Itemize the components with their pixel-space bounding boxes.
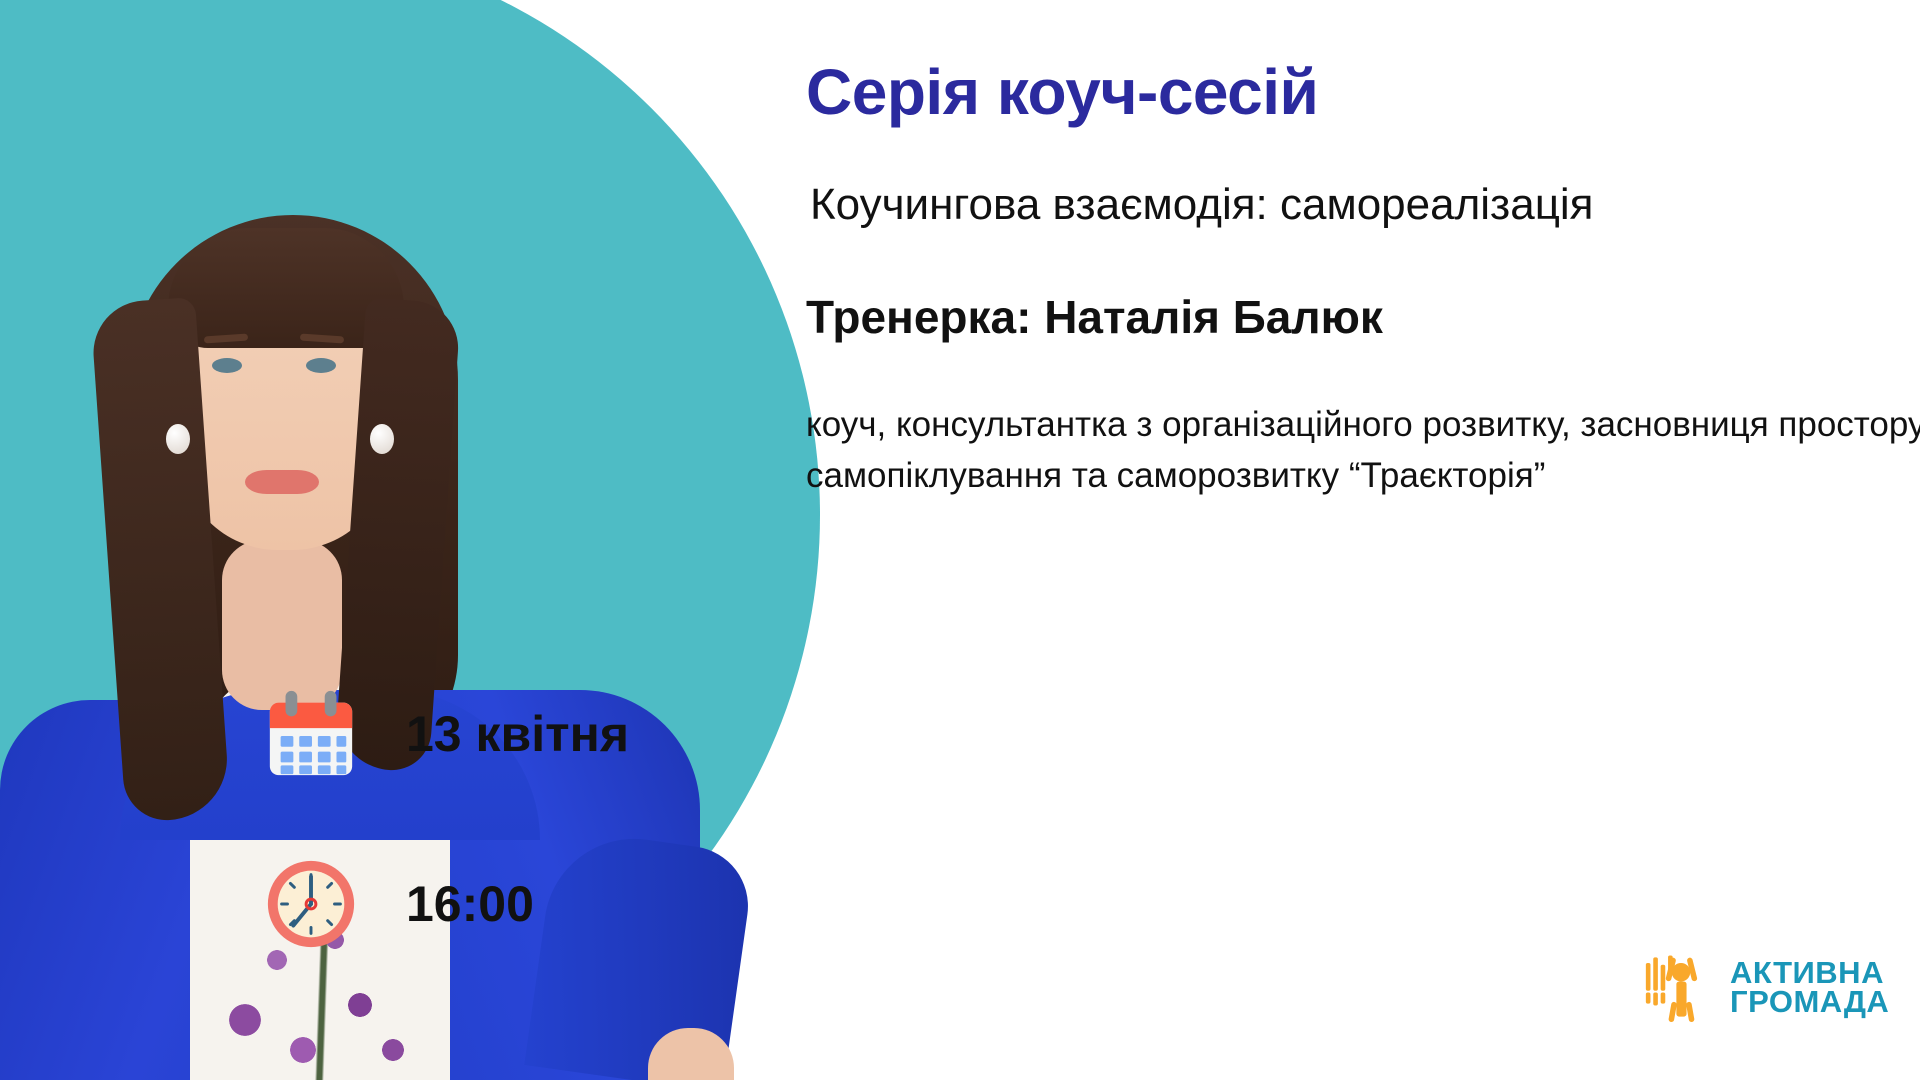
lips (245, 470, 319, 494)
trainer-bio: коуч, консультантка з організаційного ро… (806, 400, 1920, 502)
logo-line-2: ГРОМАДА (1730, 987, 1889, 1016)
logo-wordmark: АКТИВНА ГРОМАДА (1730, 958, 1889, 1017)
event-time-value: 16:00 (406, 875, 534, 933)
earring-right (370, 424, 394, 454)
eye-left (212, 358, 242, 373)
event-date-value: 13 квітня (406, 705, 629, 763)
calendar-icon (262, 685, 360, 783)
poster-subtitle: Коучингова взаємодія: самореалізація (810, 180, 1594, 230)
logo-line-1: АКТИВНА (1730, 958, 1889, 987)
poster-canvas: Серія коуч-сесій Коучингова взаємодія: с… (0, 0, 1920, 1080)
active-community-people-icon (1644, 950, 1718, 1024)
clock-icon (262, 855, 360, 953)
content-column: Серія коуч-сесій Коучингова взаємодія: с… (806, 0, 1920, 1080)
trainer-name: Тренерка: Наталія Балюк (806, 290, 1383, 344)
earring-left (166, 424, 190, 454)
poster-title: Серія коуч-сесій (806, 55, 1318, 129)
event-time-row: 16:00 (262, 855, 534, 953)
organization-logo: АКТИВНА ГРОМАДА (1644, 950, 1889, 1024)
event-date-row: 13 квітня (262, 685, 629, 783)
eye-right (306, 358, 336, 373)
